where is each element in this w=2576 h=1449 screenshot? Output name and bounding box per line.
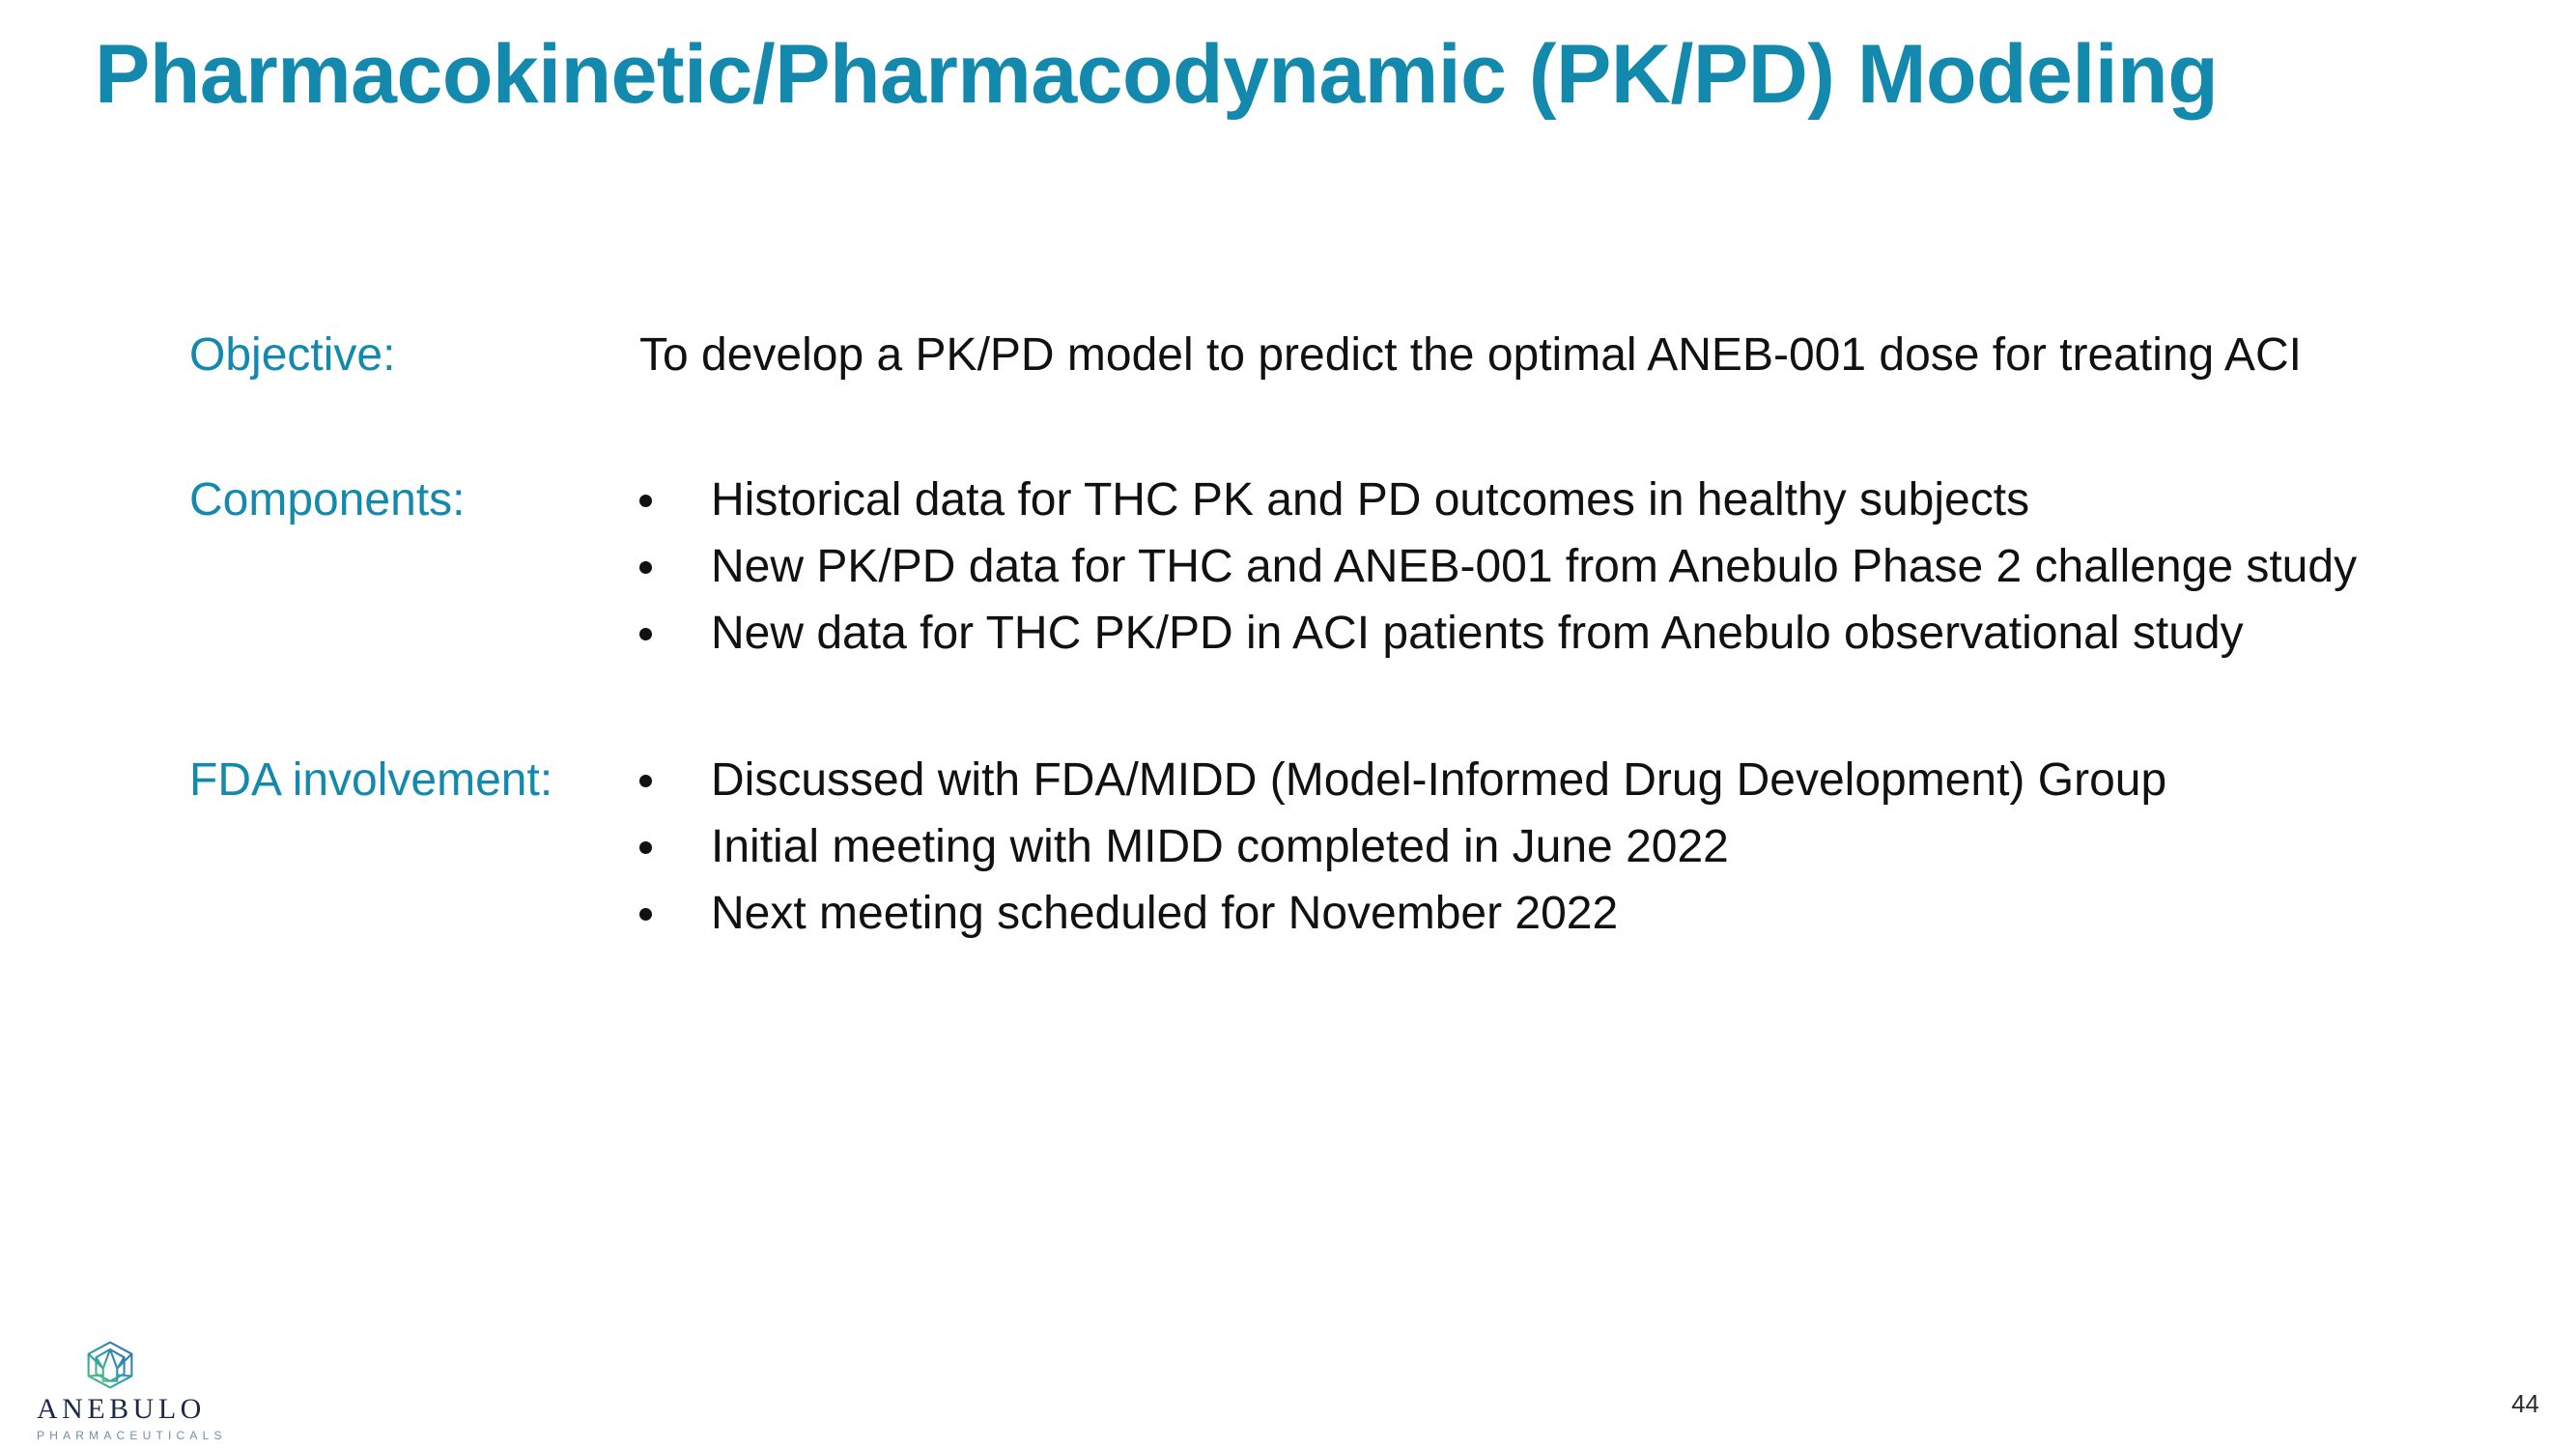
list-item: Next meeting scheduled for November 2022 — [639, 891, 2523, 937]
page-number: 44 — [2511, 1391, 2539, 1416]
section-label-fda-involvement: FDA involvement: — [189, 757, 552, 804]
slide-canvas: Pharmacokinetic/Pharmacodynamic (PK/PD) … — [0, 0, 2576, 1449]
fda-bullet-list: Discussed with FDA/MIDD (Model-Informed … — [639, 757, 2523, 937]
bullet-dot-icon — [639, 908, 652, 921]
section-body-fda-involvement: Discussed with FDA/MIDD (Model-Informed … — [639, 757, 2523, 937]
section-label-objective: Objective: — [189, 332, 395, 379]
list-item-label: Discussed with FDA/MIDD (Model-Informed … — [711, 754, 2166, 806]
list-item-label: New PK/PD data for THC and ANEB-001 from… — [711, 541, 2357, 592]
components-bullet-list: Historical data for THC PK and PD outcom… — [639, 477, 2523, 657]
section-body-components: Historical data for THC PK and PD outcom… — [639, 477, 2523, 657]
list-item-label: Initial meeting with MIDD completed in J… — [711, 821, 1729, 872]
list-item-label: Next meeting scheduled for November 2022 — [711, 888, 1618, 939]
section-body-objective: To develop a PK/PD model to predict the … — [639, 332, 2523, 379]
bullet-dot-icon — [639, 628, 652, 640]
anebulo-hexagon-logo-icon — [85, 1341, 135, 1389]
list-item: Historical data for THC PK and PD outcom… — [639, 477, 2523, 524]
list-item: Initial meeting with MIDD completed in J… — [639, 824, 2523, 870]
list-item-label: New data for THC PK/PD in ACI patients f… — [711, 608, 2244, 659]
section-label-components: Components: — [189, 477, 466, 524]
company-logo: ANEBULO PHARMACEUTICALS — [33, 1341, 187, 1441]
logo-tagline: PHARMACEUTICALS — [37, 1430, 187, 1441]
logo-wordmark: ANEBULO — [37, 1395, 187, 1424]
list-item: New PK/PD data for THC and ANEB-001 from… — [639, 544, 2523, 590]
bullet-dot-icon — [639, 841, 652, 854]
list-item: New data for THC PK/PD in ACI patients f… — [639, 611, 2523, 657]
section-components: Components: Historical data for THC PK a… — [0, 477, 2576, 719]
page-title: Pharmacokinetic/Pharmacodynamic (PK/PD) … — [95, 27, 2413, 123]
bullet-dot-icon — [639, 775, 652, 787]
list-item: Discussed with FDA/MIDD (Model-Informed … — [639, 757, 2523, 804]
section-fda-involvement: FDA involvement: Discussed with FDA/MIDD… — [0, 757, 2576, 999]
bullet-dot-icon — [639, 561, 652, 574]
bullet-dot-icon — [639, 495, 652, 507]
list-item-label: Historical data for THC PK and PD outcom… — [711, 474, 2029, 526]
section-objective: Objective: To develop a PK/PD model to p… — [0, 332, 2576, 448]
objective-text: To develop a PK/PD model to predict the … — [639, 332, 2523, 379]
